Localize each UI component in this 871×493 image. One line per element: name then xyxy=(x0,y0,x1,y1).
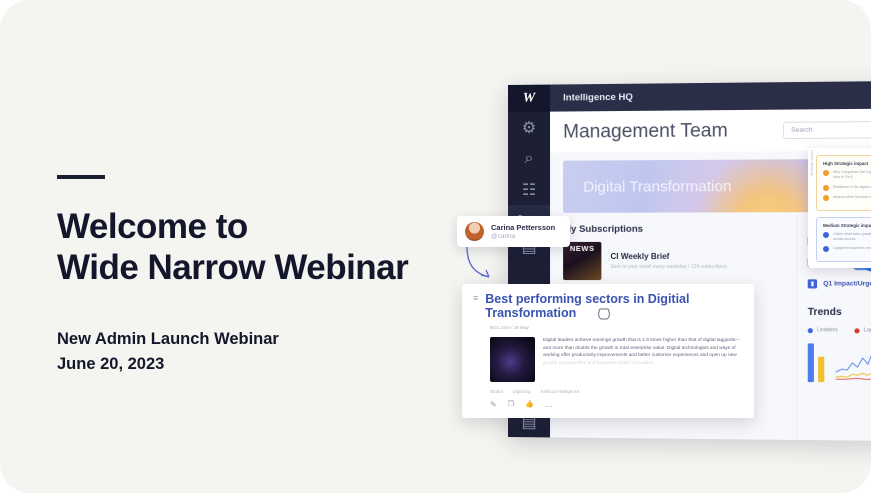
article-actions: ✎ ❐ 👍 … xyxy=(490,400,743,409)
legend-label-leaders: Leaders xyxy=(817,327,838,333)
trends-legend: Leaders Laggards xyxy=(808,327,871,333)
medium-impact-row-label: Online retail sales growth continues to … xyxy=(833,232,871,243)
article-tags: Global Digitizing Artificial Intelligenc… xyxy=(490,389,743,394)
medium-impact-row-label: Capgemini launches new intelligence unit xyxy=(833,246,871,252)
report-item[interactable]: ▮ Q1 Impact/Urgency xyxy=(808,279,871,288)
article-tag[interactable]: Digitizing xyxy=(513,389,531,394)
app-topbar: Intelligence HQ xyxy=(550,81,871,112)
list-item[interactable]: Why Companies Get Digital Strategy Wrong… xyxy=(823,170,871,181)
article-tag[interactable]: Artificial Intelligence xyxy=(541,389,580,394)
legend-dot-laggards xyxy=(854,328,859,333)
legend-item-laggards: Laggards xyxy=(854,327,871,333)
list-item[interactable]: Amazon Web Services expansion xyxy=(823,195,871,201)
page-title: Welcome to Wide Narrow Webinar xyxy=(57,207,457,289)
drag-handle-icon[interactable]: ≡ xyxy=(473,294,478,303)
article-source: BGC.com / 16 May xyxy=(490,325,743,330)
line-chart xyxy=(834,341,871,382)
user-name: Carina Pettersson xyxy=(491,223,555,232)
legend-label-laggards: Laggards xyxy=(864,327,871,333)
article-text-main: Digital leaders achieve earnings growth … xyxy=(543,338,740,359)
like-icon[interactable]: 👍 xyxy=(525,400,534,408)
bullet-icon xyxy=(823,246,829,252)
high-impact-row-label: Why Companies Get Digital Strategy Wrong… xyxy=(833,170,871,181)
report-label: Q1 Impact/Urgency xyxy=(823,280,871,287)
comment-icon[interactable]: ❐ xyxy=(508,400,514,408)
report-icon: ▮ xyxy=(808,279,817,288)
trends-heading: Trends xyxy=(808,307,871,318)
high-impact-box: High Strategic impact Why Companies Get … xyxy=(816,155,871,211)
bullet-icon xyxy=(823,195,829,201)
user-handle: @carina xyxy=(491,233,555,240)
slide-canvas: Welcome to Wide Narrow Webinar New Admin… xyxy=(0,0,871,493)
subscription-meta: Sent to your email every weekday / 124 s… xyxy=(610,264,726,270)
title-block: Welcome to Wide Narrow Webinar New Admin… xyxy=(57,175,457,378)
pointer-arrow-icon xyxy=(463,245,503,285)
subscription-name: CI Weekly Brief xyxy=(610,252,726,261)
subscription-info: CI Weekly Brief Sent to your email every… xyxy=(610,252,726,270)
strategic-impact-panel[interactable]: Strategic impact High Strategic impact W… xyxy=(808,148,871,268)
high-impact-heading: High Strategic impact xyxy=(823,161,871,166)
article-text-faded: growth opportunities and business model … xyxy=(543,361,655,366)
search-input[interactable]: Search xyxy=(783,121,871,139)
app-topbar-title: Intelligence HQ xyxy=(563,92,633,104)
accent-rule xyxy=(57,175,105,179)
article-title[interactable]: Best performing sectors in Digitial Tran… xyxy=(485,292,743,321)
user-info: Carina Pettersson @carina xyxy=(491,223,555,240)
search-icon[interactable]: ⌕ xyxy=(508,143,550,174)
list-item[interactable]: Capgemini launches new intelligence unit xyxy=(823,246,871,252)
legend-item-leaders: Leaders xyxy=(808,327,838,333)
avatar xyxy=(465,222,484,241)
high-impact-row-label: Resilience in the digital age xyxy=(833,185,871,191)
cursor-pointer-icon xyxy=(597,307,611,323)
subtitle-line-2: June 20, 2023 xyxy=(57,352,457,378)
list-item[interactable]: Online retail sales growth continues to … xyxy=(823,232,871,243)
high-impact-row-label: Amazon Web Services expansion xyxy=(833,195,871,201)
bar-laggards xyxy=(818,357,824,382)
article-text: Digital leaders achieve earnings growth … xyxy=(543,337,743,382)
bullet-icon xyxy=(823,232,829,238)
article-body: Digital leaders achieve earnings growth … xyxy=(490,337,743,382)
bar-chart xyxy=(808,343,825,382)
user-tooltip-card[interactable]: Carina Pettersson @carina xyxy=(457,216,570,247)
medium-impact-box: Medium Strategic impact Online retail sa… xyxy=(816,217,871,263)
subtitle-line-1: New Admin Launch Webinar xyxy=(57,327,457,353)
article-thumbnail xyxy=(490,337,535,382)
edit-icon[interactable]: ✎ xyxy=(490,400,497,409)
subtitle-block: New Admin Launch Webinar June 20, 2023 xyxy=(57,327,457,378)
bullet-icon xyxy=(823,170,829,176)
article-card[interactable]: ≡ Best performing sectors in Digitial Tr… xyxy=(462,284,754,418)
medium-impact-heading: Medium Strategic impact xyxy=(823,223,871,228)
app-logo[interactable]: W xyxy=(508,85,550,112)
trends-charts xyxy=(808,341,871,382)
more-icon[interactable]: … xyxy=(545,400,553,409)
app-titlebar: Management Team Search xyxy=(550,109,871,153)
bar-leaders xyxy=(808,343,814,382)
article-tag[interactable]: Global xyxy=(490,389,503,394)
hero-title: Digital Transformation xyxy=(583,177,731,195)
list-item[interactable]: Resilience in the digital age xyxy=(823,185,871,191)
strategic-axis-label: Strategic impact xyxy=(810,150,814,176)
settings-icon[interactable]: ⚙ xyxy=(508,112,550,143)
subscription-thumbnail: NEWS xyxy=(563,242,601,280)
apps-grid-icon[interactable]: ☷ xyxy=(508,174,550,205)
legend-dot-leaders xyxy=(808,328,813,333)
bullet-icon xyxy=(823,185,829,191)
app-page-title: Management Team xyxy=(563,120,728,143)
